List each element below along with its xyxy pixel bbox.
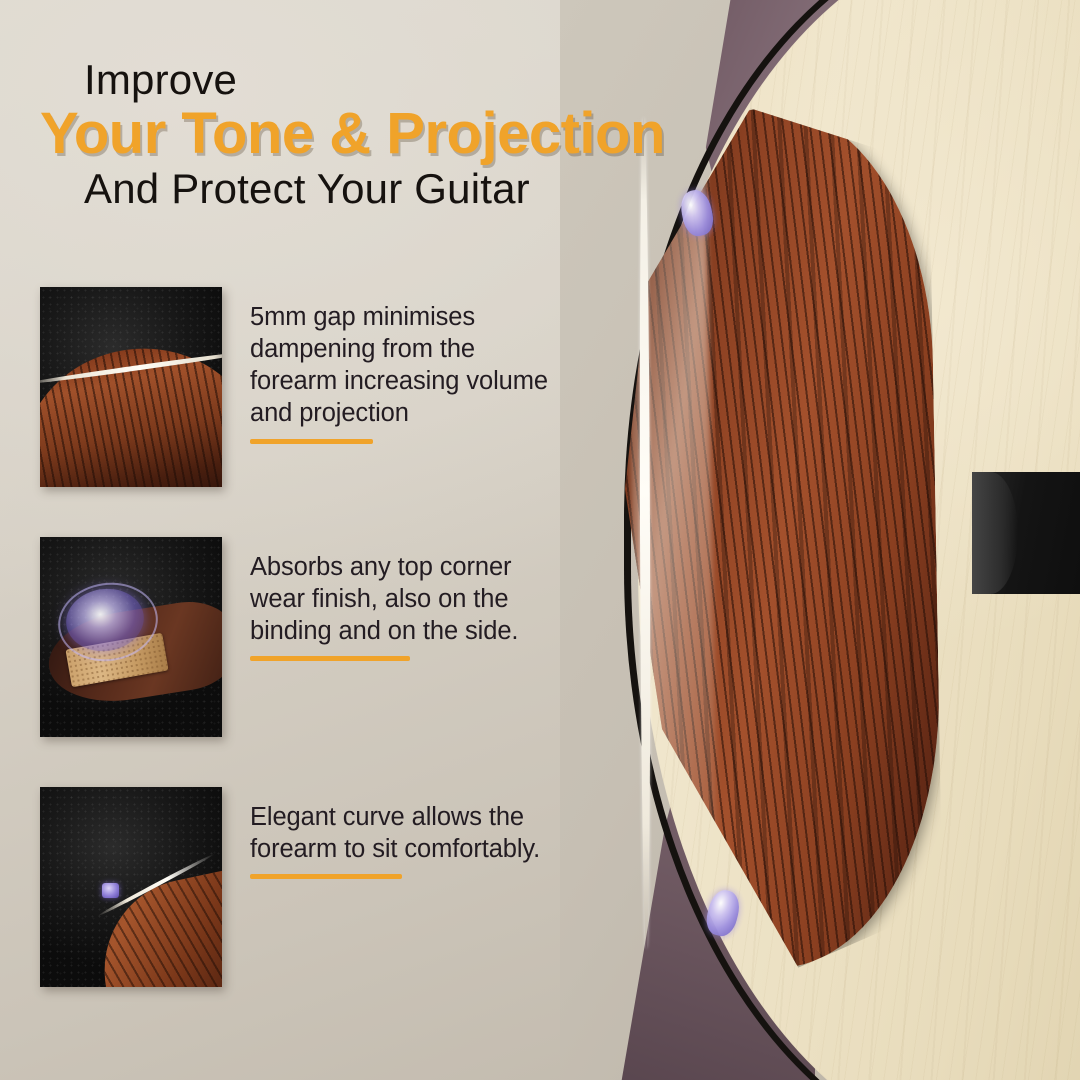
- feature-description-2: Absorbs any top corner wear finish, also…: [250, 551, 560, 647]
- headline-line-1: Improve: [84, 58, 704, 102]
- feature-thumbnail-2[interactable]: [40, 537, 222, 737]
- feature-underline-accent-2: [250, 656, 410, 661]
- feature-text-block-3: Elegant curve allows the forearm to sit …: [250, 787, 560, 879]
- feature-item-2: Absorbs any top corner wear finish, also…: [40, 537, 560, 737]
- feature-thumbnail-1[interactable]: [40, 287, 222, 487]
- feature-text-block-2: Absorbs any top corner wear finish, also…: [250, 537, 560, 661]
- feature-underline-accent-1: [250, 439, 373, 444]
- feature-description-1: 5mm gap minimises dampening from the for…: [250, 301, 560, 430]
- feature-item-1: 5mm gap minimises dampening from the for…: [40, 287, 560, 487]
- feature-item-3: Elegant curve allows the forearm to sit …: [40, 787, 560, 987]
- product-feature-graphic: Improve Your Tone & Projection And Prote…: [0, 0, 1080, 1080]
- feature-description-3: Elegant curve allows the forearm to sit …: [250, 801, 560, 865]
- feature-thumbnail-3[interactable]: [40, 787, 222, 987]
- headline-line-2-highlight: Your Tone & Projection: [40, 104, 704, 163]
- headline-group: Improve Your Tone & Projection And Prote…: [84, 58, 704, 211]
- black-accessory-block: [974, 472, 1080, 594]
- headline-line-3: And Protect Your Guitar: [84, 167, 704, 211]
- feature-text-block-1: 5mm gap minimises dampening from the for…: [250, 287, 560, 444]
- feature-underline-accent-3: [250, 874, 402, 879]
- suction-cup-tab: [102, 883, 119, 898]
